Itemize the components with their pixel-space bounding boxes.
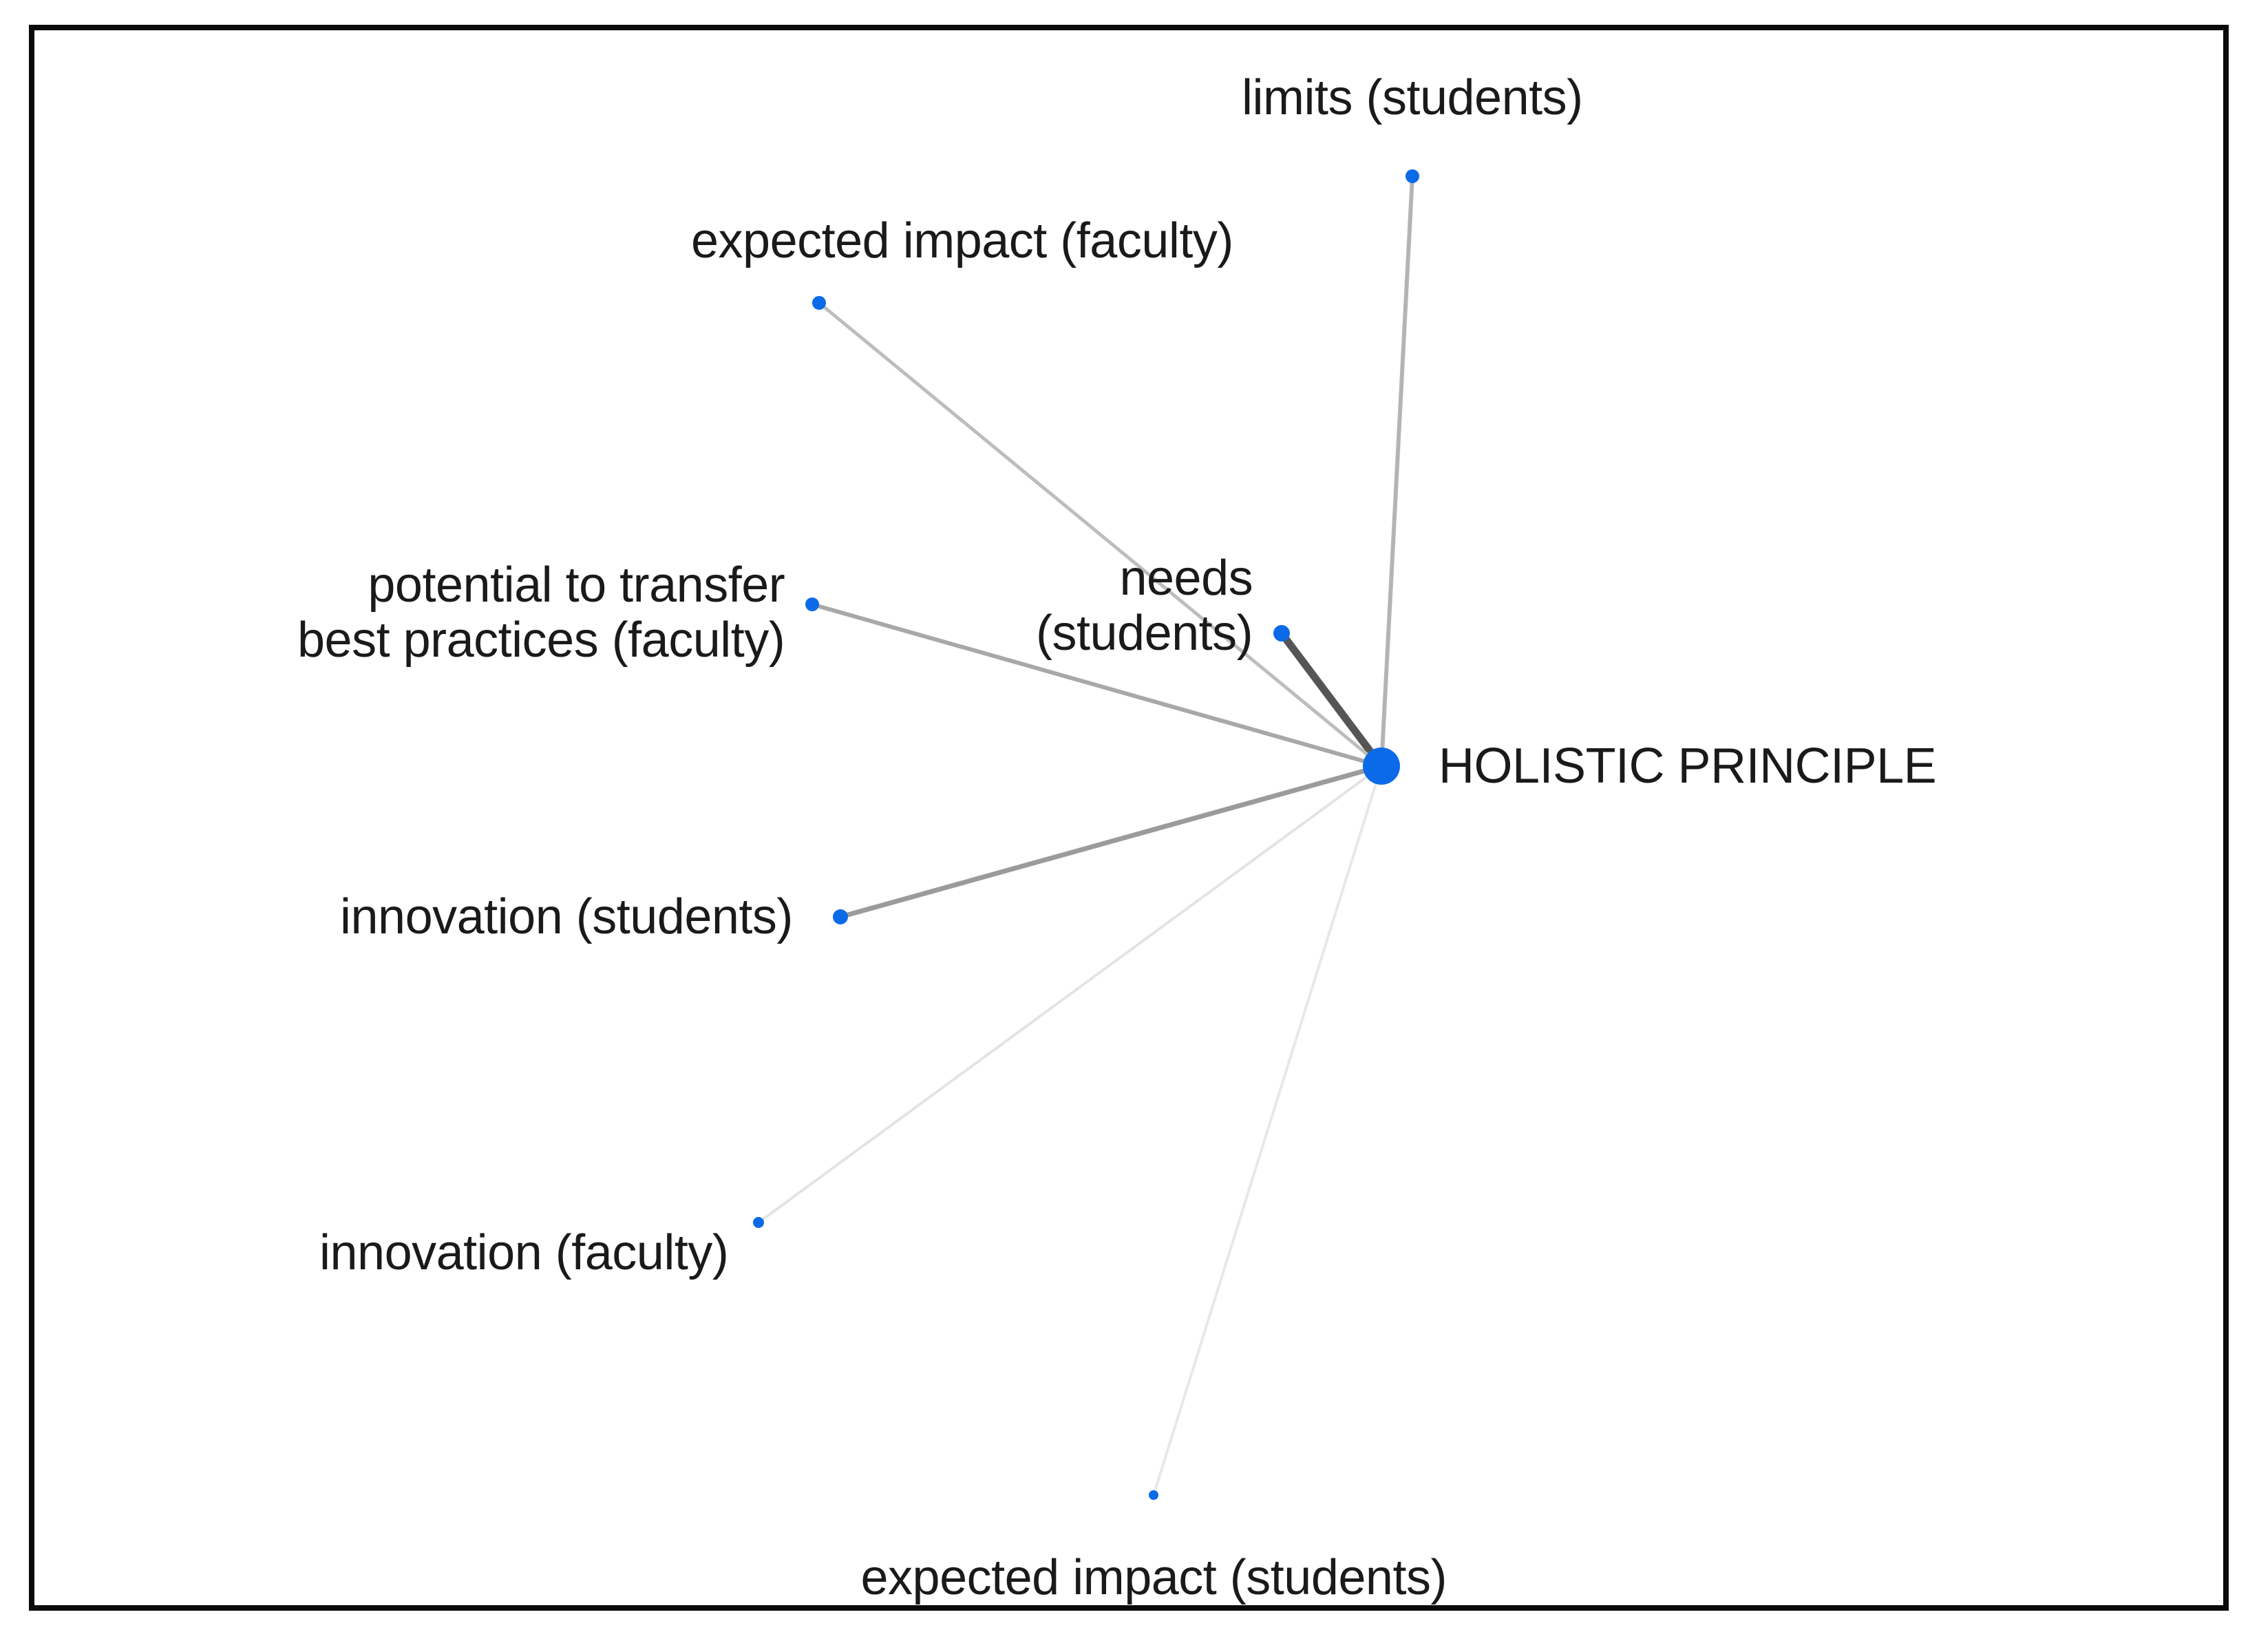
edge-innovation-students-to-holistic-principle (840, 766, 1381, 917)
node-limits-students[interactable] (1406, 169, 1419, 183)
edges-layer (759, 176, 1412, 1495)
node-label-potential-transfer-best-practices-faculty: potential to transfer best practices (fa… (297, 558, 785, 668)
node-needs-students[interactable] (1273, 625, 1290, 642)
node-expected-impact-students[interactable] (1149, 1490, 1158, 1500)
edge-limits-students-to-holistic-principle (1381, 176, 1412, 766)
node-label-innovation-students: innovation (students) (340, 889, 793, 945)
node-label-holistic-principle: HOLISTIC PRINCIPLE (1439, 739, 1936, 794)
node-innovation-students[interactable] (833, 909, 848, 924)
node-holistic-principle[interactable] (1363, 748, 1400, 785)
node-expected-impact-faculty[interactable] (812, 296, 826, 310)
node-label-limits-students: limits (students) (1242, 70, 1583, 126)
edge-expected-impact-students-to-holistic-principle (1154, 766, 1381, 1495)
node-label-innovation-faculty: innovation (faculty) (319, 1225, 728, 1281)
node-label-needs-students: needs (students) (1036, 551, 1253, 661)
nodes-layer (753, 169, 1419, 1500)
edge-needs-students-to-holistic-principle (1282, 633, 1381, 766)
node-innovation-faculty[interactable] (753, 1217, 764, 1228)
edge-innovation-faculty-to-holistic-principle (759, 766, 1381, 1222)
edge-expected-impact-faculty-to-holistic-principle (819, 303, 1381, 766)
node-label-expected-impact-faculty: expected impact (faculty) (691, 213, 1233, 269)
figure-canvas: HOLISTIC PRINCIPLElimits (students)expec… (0, 0, 2259, 1652)
node-label-expected-impact-students: expected impact (students) (861, 1550, 1447, 1606)
node-potential-transfer-best-practices-faculty[interactable] (805, 597, 819, 611)
